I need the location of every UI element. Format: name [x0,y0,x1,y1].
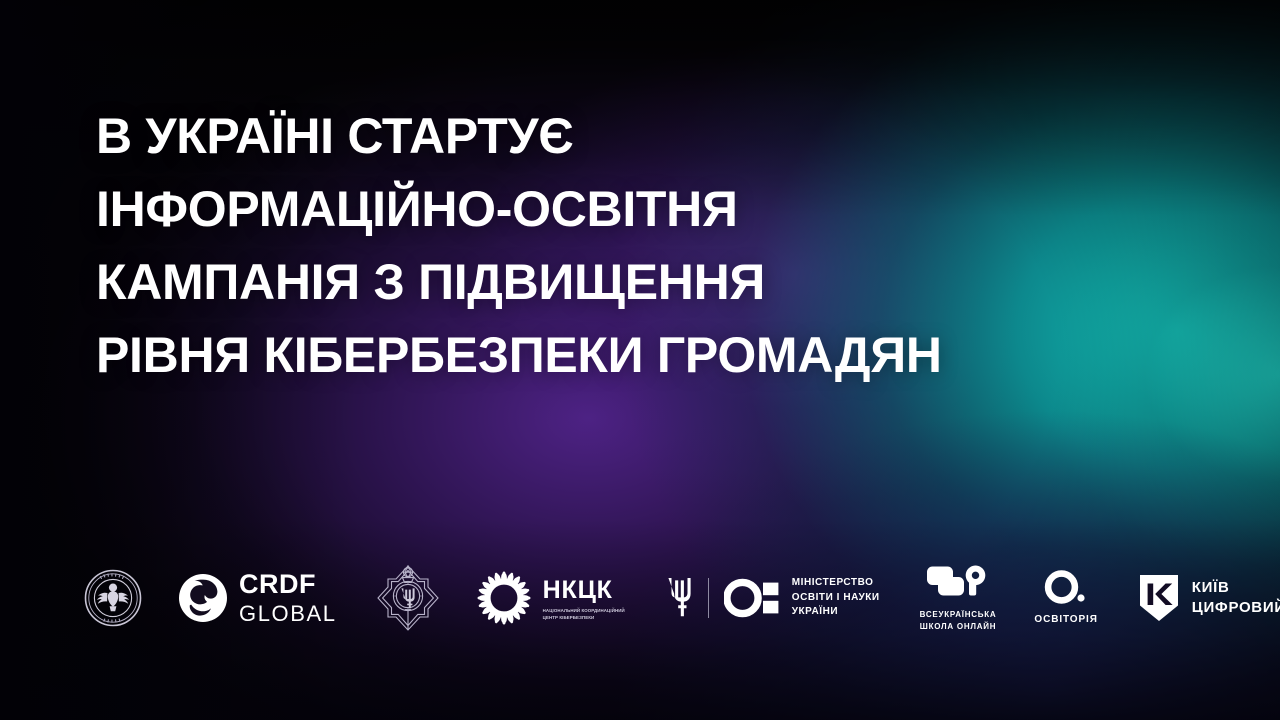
nkck-abbreviation: НКЦК [543,575,625,606]
nkck-subtitle-line-1: НАЦІОНАЛЬНИЙ КООРДИНАЦІЙНИЙ [543,608,625,615]
logo-osvitoria: ОСВІТОРІЯ [1034,562,1097,634]
mon-line-1: МІНІСТЕРСТВО [792,576,880,591]
nkck-subtitle-line-2: ЦЕНТР КІБЕРБЕЗПЕКИ [543,615,625,622]
campaign-banner: В УКРАЇНІ СТАРТУЄ ІНФОРМАЦІЙНО-ОСВІТНЯ К… [0,0,1280,720]
logo-kyiv-digital: КИЇВ ЦИФРОВИЙ [1138,562,1280,634]
crdf-wordmark: CRDF GLOBAL [239,568,337,628]
vsho-mark-icon [926,564,990,602]
kyiv-digital-line-2: ЦИФРОВИЙ [1192,598,1280,618]
ssscip-emblem-icon [375,563,441,633]
headline-line-3: КАМПАНІЯ З ПІДВИЩЕННЯ [96,246,1106,319]
osvitoria-wordmark: ОСВІТОРІЯ [1034,614,1097,626]
crdf-line-2: GLOBAL [239,601,337,628]
us-state-department-seal-icon [84,569,142,627]
logo-ssscip [375,562,441,634]
nkck-subtitle: НАЦІОНАЛЬНИЙ КООРДИНАЦІЙНИЙ ЦЕНТР КІБЕРБ… [543,608,625,621]
logo-crdf-global: CRDF GLOBAL [178,562,337,634]
mon-mark-icon [724,578,779,618]
osvitoria-label: ОСВІТОРІЯ [1034,614,1097,626]
logo-ministry-of-education: МІНІСТЕРСТВО ОСВІТИ І НАУКИ УКРАЇНИ [667,562,880,634]
vsho-line-2: ШКОЛА ОНЛАЙН [920,621,997,633]
trident-icon [667,576,693,620]
kyiv-digital-wordmark: КИЇВ ЦИФРОВИЙ [1192,578,1280,619]
kyiv-digital-line-1: КИЇВ [1192,578,1280,598]
mon-line-2: ОСВІТИ І НАУКИ [792,591,880,606]
crdf-aperture-icon [178,573,228,623]
page-title: В УКРАЇНІ СТАРТУЄ ІНФОРМАЦІЙНО-ОСВІТНЯ К… [96,100,1106,392]
logo-vseukrainska-shkola-onlain: ВСЕУКРАЇНСЬКА ШКОЛА ОНЛАЙН [920,562,997,634]
nkck-wordmark: НКЦК НАЦІОНАЛЬНИЙ КООРДИНАЦІЙНИЙ ЦЕНТР К… [543,575,625,622]
mon-line-3: УКРАЇНИ [792,605,880,620]
vsho-wordmark: ВСЕУКРАЇНСЬКА ШКОЛА ОНЛАЙН [920,609,997,633]
logo-nkck: НКЦК НАЦІОНАЛЬНИЙ КООРДИНАЦІЙНИЙ ЦЕНТР К… [477,562,625,634]
logo-us-department-of-state [84,562,142,634]
nkck-sunburst-icon [477,571,531,625]
headline-line-4: РІВНЯ КІБЕРБЕЗПЕКИ ГРОМАДЯН [96,319,1106,392]
logo-divider [708,578,709,618]
headline-line-2: ІНФОРМАЦІЙНО-ОСВІТНЯ [96,173,1106,246]
mon-wordmark: МІНІСТЕРСТВО ОСВІТИ І НАУКИ УКРАЇНИ [792,576,880,620]
crdf-line-1: CRDF [239,568,337,601]
partner-logo-strip: CRDF GLOBAL [84,552,1204,644]
headline-line-1: В УКРАЇНІ СТАРТУЄ [96,100,1106,173]
kyiv-digital-shield-icon [1138,573,1180,623]
vsho-line-1: ВСЕУКРАЇНСЬКА [920,609,997,621]
osvitoria-o-icon [1042,570,1090,608]
